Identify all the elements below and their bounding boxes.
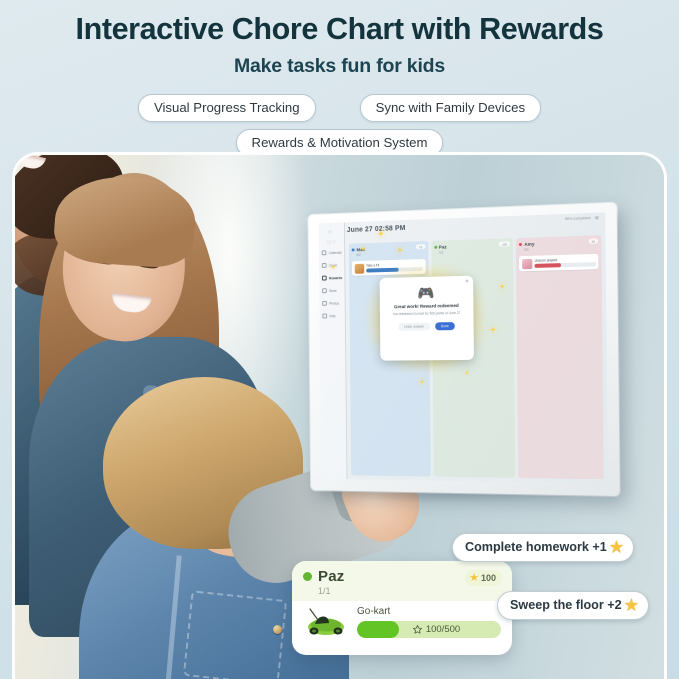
store-icon — [322, 288, 327, 293]
goal-title: Go-kart — [357, 606, 501, 617]
completion-status: 90% completed — [565, 216, 591, 221]
goal-progress-fill — [357, 621, 399, 638]
page-title: Interactive Chore Chart with Rewards — [0, 13, 679, 46]
paz-name: Paz — [318, 568, 344, 585]
task-thumbnail — [354, 263, 364, 273]
go-kart-icon: 🎮 — [386, 285, 466, 301]
chart-icon — [322, 263, 327, 268]
callout-text: Complete homework +1 — [465, 540, 607, 554]
task-body: Unicorn playset — [535, 257, 596, 268]
wall-mounted-display: 90% completed ☀ 86°F June 27 02:58 PM — [308, 203, 619, 496]
kid-name: Paz — [439, 244, 447, 249]
datetime-label: June 27 02:58 PM — [347, 225, 406, 234]
goal-progress-bar: 100/500 — [357, 621, 501, 638]
display-bezel: 90% completed ☀ 86°F June 27 02:58 PM — [319, 212, 608, 483]
boy-jacket-pocket — [183, 590, 287, 679]
done-button[interactable]: Done — [435, 322, 455, 330]
sidebar-item-label: Photos — [329, 301, 339, 305]
modal-title: Great work! Reward redeemed — [387, 303, 467, 310]
paz-goal: Go-kart 100/500 — [357, 606, 501, 638]
trophy-icon — [322, 276, 327, 281]
reward-redeemed-modal: ✕ 🎮 Great work! Reward redeemed You rede… — [380, 276, 474, 361]
star-icon: ★ — [469, 571, 479, 584]
sidebar-item-label: Chart — [329, 263, 337, 267]
paz-points-badge: ★ 100 — [465, 570, 502, 586]
feature-pill-sync-devices: Sync with Family Devices — [360, 94, 542, 122]
paz-color-dot — [303, 572, 312, 581]
kid-points-badge: 12 — [416, 244, 425, 249]
star-icon: ★ — [610, 538, 623, 556]
feature-pill-row-1: Visual Progress Tracking Sync with Famil… — [0, 94, 679, 122]
sidebar-item-photos[interactable]: Photos — [319, 297, 344, 310]
kid-color-dot — [434, 246, 437, 249]
close-icon[interactable]: ✕ — [465, 279, 469, 285]
kid-color-dot — [352, 248, 355, 251]
go-kart-icon — [303, 607, 349, 637]
task-thumbnail — [522, 258, 532, 268]
kid-color-dot — [519, 243, 522, 246]
paz-reward-card: Paz 1/1 ★ 100 Go-kart — [292, 561, 512, 655]
sidebar-item-chart[interactable]: Chart — [319, 259, 344, 272]
sidebar-item-kids[interactable]: Kids — [320, 309, 345, 322]
kid-task-count: 0/2 — [356, 251, 425, 257]
sidebar-item-calendar[interactable]: Calendar — [319, 246, 344, 259]
kid-points-badge: 100 — [499, 241, 510, 246]
kid-points-badge: 40 — [588, 238, 598, 243]
app-sidebar: Calendar Chart Rewards Store — [319, 222, 348, 479]
chore-chart-app: 90% completed ☀ 86°F June 27 02:58 PM — [319, 212, 608, 483]
sidebar-item-label: Kids — [329, 314, 335, 318]
photo-icon — [322, 301, 327, 306]
paz-points: 100 — [481, 573, 496, 583]
kid-name: Max — [356, 247, 365, 252]
star-icon: ★ — [625, 596, 638, 614]
calendar-icon — [322, 250, 327, 255]
task-card[interactable]: Unicorn playset — [519, 254, 598, 272]
paz-card-body: Go-kart 100/500 — [292, 601, 512, 646]
callout-text: Sweep the floor +2 — [510, 598, 622, 612]
goal-progress-label-wrap: 100/500 — [412, 624, 460, 635]
undo-redeem-button[interactable]: Undo redeem — [398, 323, 430, 331]
feature-pill-visual-progress: Visual Progress Tracking — [138, 94, 316, 122]
kid-column-amy[interactable]: 40 Amy 0/1 Unicorn playset — [516, 235, 604, 479]
star-outline-icon — [412, 624, 423, 635]
app-status-bar: 90% completed — [565, 215, 600, 222]
modal-actions: Undo redeem Done — [387, 322, 467, 331]
modal-subtitle: You redeemed Go-Kart for 500 points on J… — [387, 311, 467, 317]
marketing-header: Interactive Chore Chart with Rewards Mak… — [0, 0, 679, 157]
wifi-icon — [594, 215, 600, 221]
kid-name: Amy — [524, 242, 534, 247]
jacket-button — [273, 625, 282, 634]
sidebar-item-label: Calendar — [329, 250, 342, 254]
sidebar-item-rewards[interactable]: Rewards — [319, 271, 344, 284]
page-subtitle: Make tasks fun for kids — [0, 55, 679, 78]
callout-complete-homework: Complete homework +1 ★ — [452, 533, 634, 562]
sidebar-item-label: Rewards — [329, 276, 342, 280]
sidebar-item-label: Store — [329, 288, 337, 292]
task-progress-fill — [535, 263, 562, 268]
kid-task-count: 1/1 — [439, 248, 510, 254]
sidebar-item-store[interactable]: Store — [319, 284, 344, 297]
goal-progress-label: 100/500 — [426, 624, 460, 635]
callout-sweep-floor: Sweep the floor +2 ★ — [497, 591, 649, 620]
paz-task-progress: 1/1 — [318, 586, 501, 596]
kid-task-count: 0/1 — [524, 246, 598, 252]
paz-card-header: Paz 1/1 ★ 100 — [292, 561, 512, 601]
kids-icon — [322, 313, 327, 318]
task-progress-bar — [535, 262, 596, 268]
